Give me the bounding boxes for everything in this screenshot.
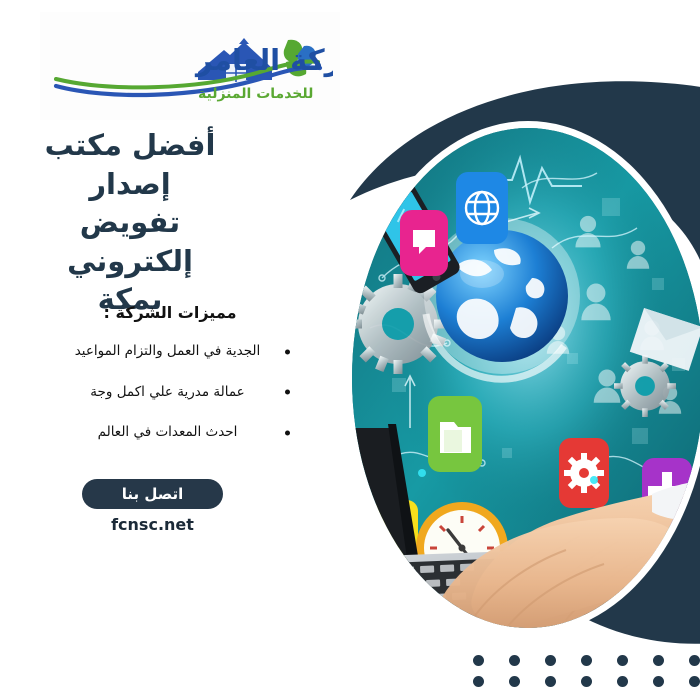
dot — [545, 655, 556, 666]
poster-canvas: teamwork — [0, 0, 700, 700]
headline-line-2: تفويض إلكتروني — [15, 203, 245, 280]
dot-row — [496, 671, 700, 692]
website-url[interactable]: fcnsc.net — [82, 515, 223, 534]
dot — [653, 676, 664, 687]
feature-text: احدث المعدات في العالم — [98, 424, 238, 440]
svg-text:للخدمات المنزلية: للخدمات المنزلية — [198, 86, 313, 102]
dot — [509, 655, 520, 666]
dot — [617, 655, 628, 666]
dot — [581, 655, 592, 666]
headline-line-1: أفضل مكتب إصدار — [15, 126, 245, 203]
list-item: عمالة مدرية علي اكمل وجة — [55, 386, 280, 400]
list-item: الجدية في العمل والتزام المواعيد — [55, 345, 280, 359]
dot — [689, 655, 700, 666]
dot — [581, 676, 592, 687]
company-logo: شركة العامر للخدمات المنزلية — [40, 12, 340, 120]
bullet-icon — [285, 430, 290, 435]
bullet-icon — [285, 349, 290, 354]
bullet-icon — [285, 390, 290, 395]
feature-text: عمالة مدرية علي اكمل وجة — [90, 384, 244, 400]
dot — [617, 676, 628, 687]
dot — [545, 676, 556, 687]
contact-us-button[interactable]: اتصل بنا — [82, 479, 223, 509]
hero-image: teamwork — [352, 128, 700, 628]
dot-row — [496, 650, 700, 671]
dot — [653, 655, 664, 666]
svg-text:شركة العامر: شركة العامر — [194, 43, 333, 77]
features-list: الجدية في العمل والتزام المواعيد عمالة م… — [55, 345, 280, 467]
page-title: أفضل مكتب إصدار تفويض إلكتروني بمكة — [15, 126, 245, 319]
list-item: احدث المعدات في العالم — [55, 426, 280, 440]
dot — [509, 676, 520, 687]
dot — [689, 676, 700, 687]
dot — [473, 676, 484, 687]
features-heading: مميزات الشركة : — [75, 303, 265, 322]
dot — [473, 655, 484, 666]
dot-grid-decoration — [496, 650, 700, 692]
feature-text: الجدية في العمل والتزام المواعيد — [75, 343, 261, 359]
